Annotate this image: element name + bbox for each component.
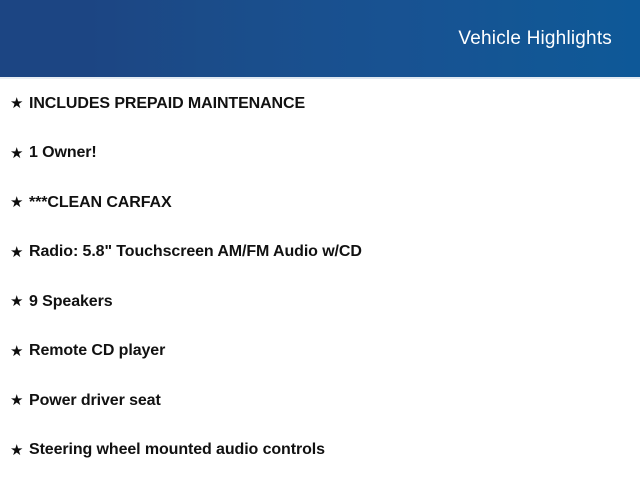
list-item-label: Remote CD player [29, 342, 165, 360]
star-icon: ★ [10, 344, 29, 359]
list-item: ★ Remote CD player [0, 327, 640, 377]
list-item: ★ Steering wheel mounted audio controls [0, 426, 640, 476]
star-icon: ★ [10, 393, 29, 408]
list-item: ★ ***CLEAN CARFAX [0, 178, 640, 228]
star-icon: ★ [10, 294, 29, 309]
star-icon: ★ [10, 245, 29, 260]
list-item-label: ***CLEAN CARFAX [29, 194, 172, 212]
list-item: ★ Radio: 5.8" Touchscreen AM/FM Audio w/… [0, 228, 640, 278]
star-icon: ★ [10, 195, 29, 210]
list-item-label: Steering wheel mounted audio controls [29, 441, 325, 459]
vehicle-highlights-list: ★ INCLUDES PREPAID MAINTENANCE ★ 1 Owner… [0, 79, 640, 475]
list-item: ★ INCLUDES PREPAID MAINTENANCE [0, 79, 640, 129]
list-item: ★ Power driver seat [0, 376, 640, 426]
list-item-label: 9 Speakers [29, 293, 113, 311]
list-item-label: Radio: 5.8" Touchscreen AM/FM Audio w/CD [29, 243, 362, 261]
star-icon: ★ [10, 443, 29, 458]
page-header-banner: Vehicle Highlights [0, 0, 640, 77]
page-title: Vehicle Highlights [458, 29, 612, 48]
list-item-label: 1 Owner! [29, 144, 97, 162]
list-item: ★ 9 Speakers [0, 277, 640, 327]
list-item: ★ 1 Owner! [0, 129, 640, 179]
star-icon: ★ [10, 146, 29, 161]
vehicle-highlights-page: Vehicle Highlights ★ INCLUDES PREPAID MA… [0, 0, 640, 480]
star-icon: ★ [10, 96, 29, 111]
list-item-label: Power driver seat [29, 392, 161, 410]
list-item-label: INCLUDES PREPAID MAINTENANCE [29, 95, 305, 113]
